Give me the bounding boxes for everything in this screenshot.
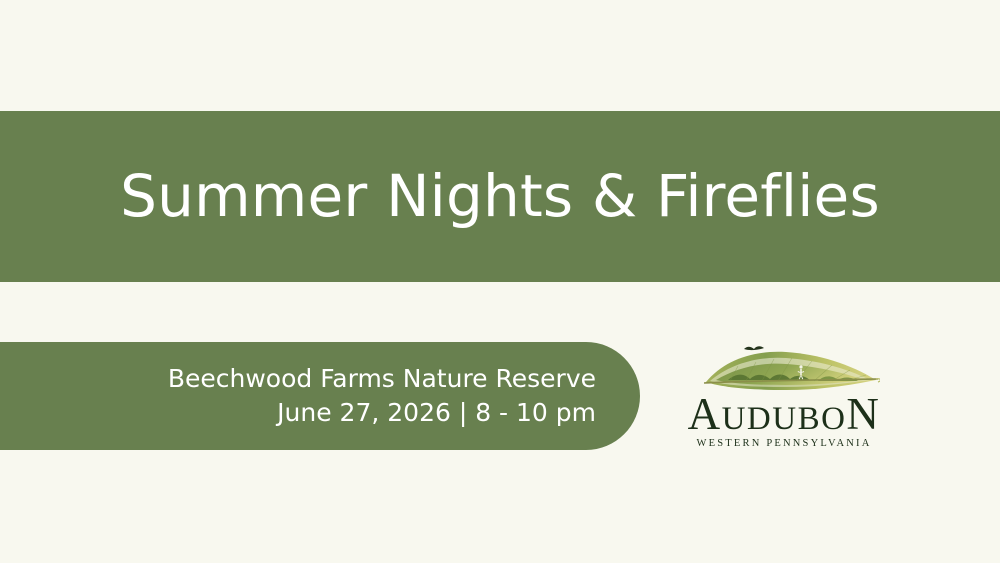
audubon-wordmark-text: AUDUBON — [672, 392, 896, 437]
audubon-logo: AUDUBON WESTERN PENNSYLVANIA — [672, 340, 896, 456]
audubon-chapter-subtitle: WESTERN PENNSYLVANIA — [672, 439, 896, 450]
event-details-banner: Beechwood Farms Nature Reserve June 27, … — [0, 342, 640, 450]
page-title: Summer Nights & Fireflies — [120, 165, 880, 229]
wordmark-letter-n: N — [846, 389, 880, 439]
wordmark-letter-a: A — [688, 389, 722, 439]
wordmark-middle: UDUBO — [722, 401, 847, 437]
event-poster: Summer Nights & Fireflies Beechwood Farm… — [0, 0, 1000, 563]
title-banner: Summer Nights & Fireflies — [0, 111, 1000, 282]
event-datetime: June 27, 2026 | 8 - 10 pm — [277, 396, 596, 431]
audubon-feather-icon — [700, 340, 880, 396]
event-location: Beechwood Farms Nature Reserve — [168, 362, 596, 397]
audubon-wordmark: AUDUBON WESTERN PENNSYLVANIA — [672, 392, 896, 450]
